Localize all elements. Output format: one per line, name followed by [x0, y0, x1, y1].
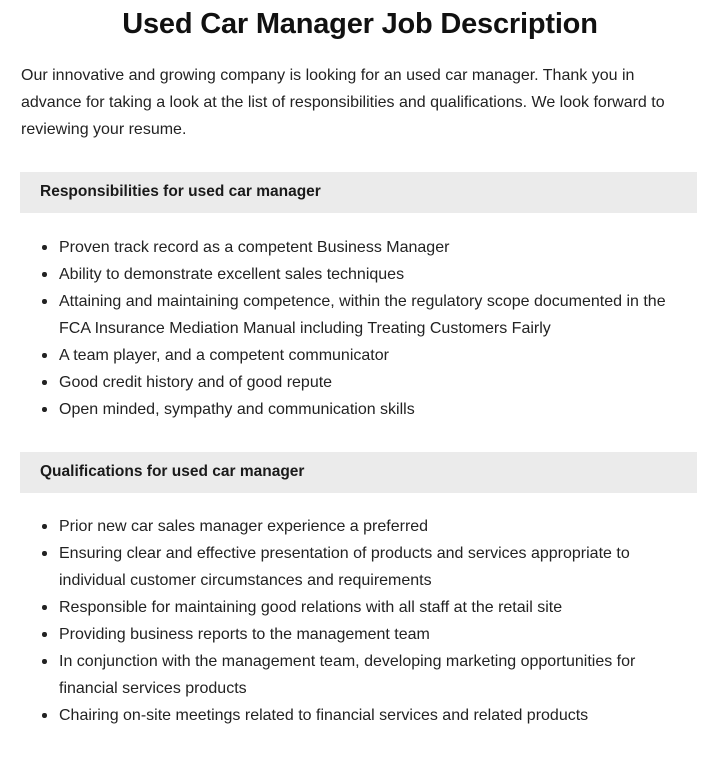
- list-item-label: In conjunction with the management team,…: [59, 648, 696, 702]
- bullet-icon: [42, 605, 47, 610]
- section-heading-responsibilities: Responsibilities for used car manager: [20, 172, 697, 213]
- list-item: Responsible for maintaining good relatio…: [0, 594, 720, 621]
- page-title: Used Car Manager Job Description: [0, 0, 720, 42]
- list-item: Ensuring clear and effective presentatio…: [0, 540, 720, 594]
- list-item-label: Chairing on-site meetings related to fin…: [59, 702, 696, 729]
- list-item: Chairing on-site meetings related to fin…: [0, 702, 720, 729]
- bullet-icon: [42, 551, 47, 556]
- list-item: Good credit history and of good repute: [0, 369, 720, 396]
- bullet-icon: [42, 524, 47, 529]
- list-item: A team player, and a competent communica…: [0, 342, 720, 369]
- section-heading-qualifications: Qualifications for used car manager: [20, 452, 697, 493]
- list-item-label: Providing business reports to the manage…: [59, 621, 696, 648]
- bullet-icon: [42, 407, 47, 412]
- section-responsibilities: Responsibilities for used car manager Pr…: [0, 172, 720, 423]
- bullet-icon: [42, 272, 47, 277]
- list-item-label: Ability to demonstrate excellent sales t…: [59, 261, 696, 288]
- bullet-icon: [42, 632, 47, 637]
- list-item-label: Ensuring clear and effective presentatio…: [59, 540, 696, 594]
- list-item: Proven track record as a competent Busin…: [0, 234, 720, 261]
- list-item: Providing business reports to the manage…: [0, 621, 720, 648]
- intro-paragraph: Our innovative and growing company is lo…: [0, 42, 720, 143]
- list-item: Prior new car sales manager experience a…: [0, 513, 720, 540]
- bullet-icon: [42, 713, 47, 718]
- bullet-icon: [42, 299, 47, 304]
- list-item-label: Good credit history and of good repute: [59, 369, 696, 396]
- bullet-icon: [42, 659, 47, 664]
- list-item-label: Proven track record as a competent Busin…: [59, 234, 696, 261]
- responsibilities-list: Proven track record as a competent Busin…: [0, 213, 720, 423]
- section-qualifications: Qualifications for used car manager Prio…: [0, 452, 720, 729]
- list-item-label: Attaining and maintaining competence, wi…: [59, 288, 696, 342]
- list-item: Open minded, sympathy and communication …: [0, 396, 720, 423]
- bullet-icon: [42, 245, 47, 250]
- qualifications-list: Prior new car sales manager experience a…: [0, 493, 720, 729]
- list-item: Ability to demonstrate excellent sales t…: [0, 261, 720, 288]
- bullet-icon: [42, 380, 47, 385]
- list-item: Attaining and maintaining competence, wi…: [0, 288, 720, 342]
- bullet-icon: [42, 353, 47, 358]
- list-item-label: A team player, and a competent communica…: [59, 342, 696, 369]
- list-item-label: Responsible for maintaining good relatio…: [59, 594, 696, 621]
- list-item-label: Open minded, sympathy and communication …: [59, 396, 696, 423]
- list-item: In conjunction with the management team,…: [0, 648, 720, 702]
- job-description-page: Used Car Manager Job Description Our inn…: [0, 0, 720, 760]
- list-item-label: Prior new car sales manager experience a…: [59, 513, 696, 540]
